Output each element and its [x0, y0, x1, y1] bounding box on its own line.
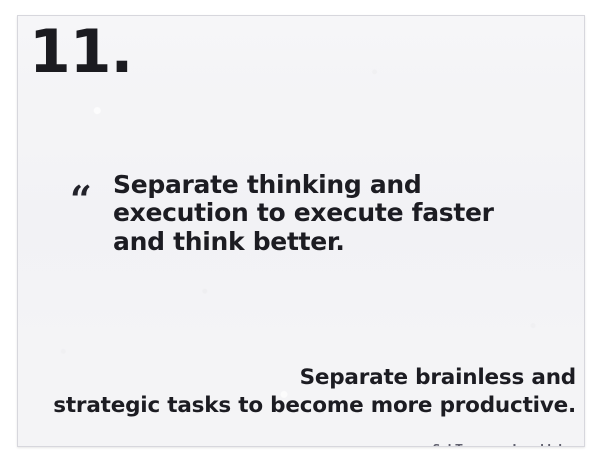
quote-text: Separate thinking and execution to execu… [113, 171, 543, 256]
slide-content: 11. “ Separate thinking and execution to… [18, 16, 584, 446]
conclusion-text: Separate brainless and strategic tasks t… [36, 364, 576, 419]
slide-root: 11. “ Separate thinking and execution to… [0, 0, 600, 463]
quote-attribution: - Sol Tanguay, Imarklab [54, 443, 566, 447]
presentation-slide: 11. “ Separate thinking and execution to… [17, 15, 585, 447]
conclusion-line-2: strategic tasks to become more productiv… [36, 392, 576, 420]
conclusion-line-1: Separate brainless and [36, 364, 576, 392]
open-quotation-mark-icon: “ [70, 181, 90, 219]
quote-line-2: execution to execute faster [113, 199, 543, 227]
quote-line-1: Separate thinking and [113, 171, 543, 199]
slide-number: 11. [29, 22, 132, 82]
quote-line-3: and think better. [113, 228, 543, 256]
